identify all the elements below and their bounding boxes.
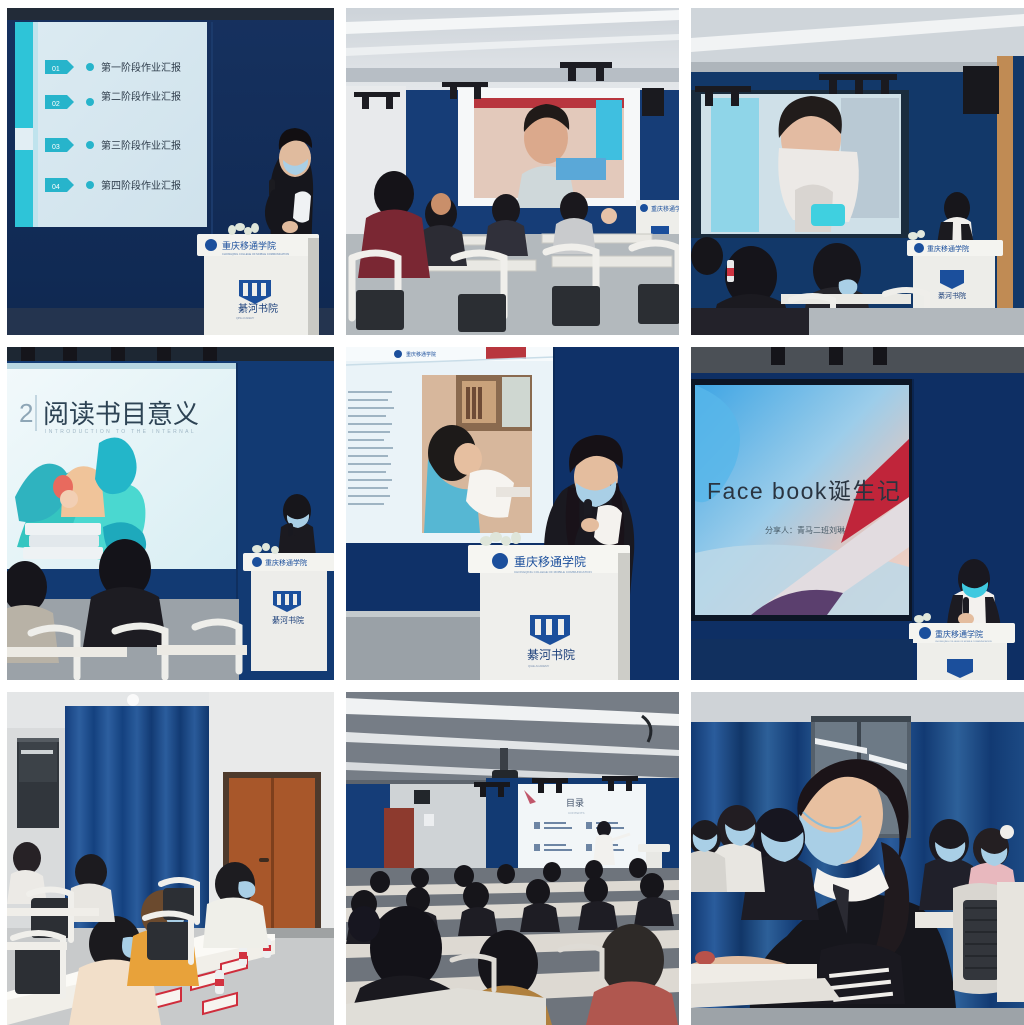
svg-text:01: 01 — [52, 66, 60, 73]
svg-text:INTRODUCTION TO THE INTERNAL: INTRODUCTION TO THE INTERNAL — [45, 429, 196, 435]
collage-photo-top-center: 重庆移通学院 綦河书院 — [346, 8, 679, 335]
svg-text:重庆移通学院: 重庆移通学院 — [514, 554, 586, 569]
svg-text:QIHE ACADEMY: QIHE ACADEMY — [528, 664, 549, 668]
svg-text:重庆移通学院: 重庆移通学院 — [927, 244, 969, 253]
collage-photo-bottom-center: 目录 CONTENTS — [346, 692, 679, 1025]
photo-collage: 01 第一阶段作业汇报 02 第二阶段作业汇报 03 第三阶段作业汇报 — [0, 0, 1024, 1024]
svg-text:第四阶段作业汇报: 第四阶段作业汇报 — [101, 179, 181, 192]
svg-text:2: 2 — [19, 398, 33, 428]
collage-photo-middle-right: Face book诞生记 分享人：青马二班刘琳 重庆移通学院 CHONGQING… — [691, 347, 1024, 680]
svg-text:綦河书院: 綦河书院 — [938, 291, 966, 300]
svg-text:重庆移通学院: 重庆移通学院 — [935, 629, 983, 639]
svg-text:分享人：青马二班刘琳: 分享人：青马二班刘琳 — [765, 525, 845, 535]
svg-text:重庆移通学院: 重庆移通学院 — [406, 351, 436, 358]
svg-text:綦河书院: 綦河书院 — [527, 648, 575, 662]
collage-photo-middle-left: 2 阅读书目意义 INTRODUCTION TO THE INTERNAL — [7, 347, 334, 680]
svg-text:第一阶段作业汇报: 第一阶段作业汇报 — [101, 61, 181, 74]
svg-text:目录: 目录 — [566, 798, 584, 808]
collage-photo-bottom-left — [7, 692, 334, 1025]
svg-text:重庆移通学院: 重庆移通学院 — [265, 558, 307, 567]
svg-text:03: 03 — [52, 144, 60, 151]
collage-photo-top-left: 01 第一阶段作业汇报 02 第二阶段作业汇报 03 第三阶段作业汇报 — [7, 8, 334, 335]
svg-text:QIHE ACADEMY: QIHE ACADEMY — [236, 317, 255, 320]
svg-text:CHONGQING COLLEGE OF MOBILE CO: CHONGQING COLLEGE OF MOBILE COMMUNICATIO… — [935, 640, 992, 643]
collage-photo-bottom-right — [691, 692, 1024, 1025]
svg-text:阅读书目意义: 阅读书目意义 — [43, 400, 199, 429]
svg-text:Face book诞生记: Face book诞生记 — [707, 478, 901, 504]
svg-text:第三阶段作业汇报: 第三阶段作业汇报 — [101, 139, 181, 152]
svg-text:綦河书院: 綦河书院 — [272, 615, 304, 625]
svg-text:CONTENTS: CONTENTS — [568, 811, 585, 815]
collage-photo-middle-center: 重庆移通学院 — [346, 347, 679, 680]
svg-text:04: 04 — [52, 184, 60, 191]
svg-text:02: 02 — [52, 101, 60, 108]
svg-text:第二阶段作业汇报: 第二阶段作业汇报 — [101, 90, 181, 103]
svg-text:綦河书院: 綦河书院 — [238, 302, 278, 315]
svg-text:CHONGQING COLLEGE OF MOBILE CO: CHONGQING COLLEGE OF MOBILE COMMUNICATIO… — [514, 570, 592, 574]
svg-text:重庆移通学院: 重庆移通学院 — [651, 205, 679, 213]
svg-text:重庆移通学院: 重庆移通学院 — [222, 240, 276, 251]
svg-text:CHONGQING COLLEGE OF MOBILE CO: CHONGQING COLLEGE OF MOBILE COMMUNICATIO… — [222, 252, 289, 256]
collage-photo-top-right: 重庆移通学院 綦河书院 — [691, 8, 1024, 335]
